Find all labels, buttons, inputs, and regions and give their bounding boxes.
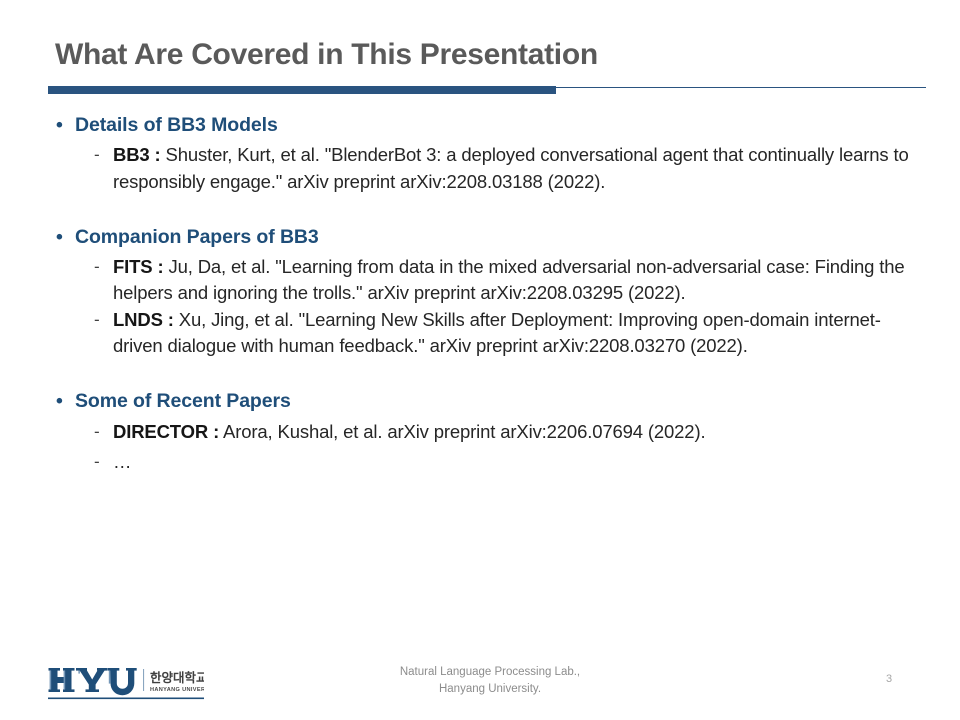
outline-item: - … <box>0 449 960 475</box>
dash-bullet-icon: - <box>94 142 100 168</box>
page-number: 3 <box>886 673 916 685</box>
title-divider <box>48 84 926 94</box>
outline-item-lead: LNDS : <box>113 309 174 330</box>
outline-item-text: … <box>113 451 131 472</box>
dash-bullet-icon: - <box>94 254 100 280</box>
outline-item-lead: FITS : <box>113 256 163 277</box>
outline-group: • Companion Papers of BB3 - FITS : Ju, D… <box>0 224 960 359</box>
outline-group: • Some of Recent Papers - DIRECTOR : Aro… <box>0 388 960 475</box>
outline-item: - BB3 : Shuster, Kurt, et al. "BlenderBo… <box>0 142 960 195</box>
outline-item-text: Arora, Kushal, et al. arXiv preprint arX… <box>219 421 705 442</box>
title-divider-thick-bar <box>48 86 556 94</box>
slide-title-block: What Are Covered in This Presentation <box>55 38 925 73</box>
hyu-logo-graphic: 한양대학교 HANYANG UNIVERSITY <box>48 666 204 702</box>
dash-bullet-icon: - <box>94 307 100 333</box>
outline-item-lead: BB3 : <box>113 144 161 165</box>
logo-english-name: HANYANG UNIVERSITY <box>150 687 204 693</box>
footer-note: Natural Language Processing Lab., Hanyan… <box>330 664 650 697</box>
outline-heading-label: Some of Recent Papers <box>75 390 291 412</box>
outline-heading-label: Details of BB3 Models <box>75 114 278 136</box>
logo-korean-name: 한양대학교 <box>150 670 204 685</box>
outline-content: • Details of BB3 Models - BB3 : Shuster,… <box>0 112 960 475</box>
logo-divider <box>143 669 144 691</box>
bullet-dot-icon: • <box>56 224 63 250</box>
outline-item: - LNDS : Xu, Jing, et al. "Learning New … <box>0 307 960 360</box>
footer-line-2: Hanyang University. <box>330 681 650 698</box>
outline-item-text: Ju, Da, et al. "Learning from data in th… <box>113 256 905 303</box>
outline-group: • Details of BB3 Models - BB3 : Shuster,… <box>0 112 960 195</box>
presentation-slide: What Are Covered in This Presentation • … <box>0 0 960 720</box>
hyu-wordmark-icon <box>49 668 137 695</box>
dash-bullet-icon: - <box>94 449 100 475</box>
page-title: What Are Covered in This Presentation <box>55 38 925 73</box>
outline-item: - DIRECTOR : Arora, Kushal, et al. arXiv… <box>0 419 960 445</box>
outline-item: - FITS : Ju, Da, et al. "Learning from d… <box>0 254 960 307</box>
dash-bullet-icon: - <box>94 419 100 445</box>
outline-heading: • Companion Papers of BB3 <box>0 224 960 250</box>
outline-heading: • Details of BB3 Models <box>0 112 960 138</box>
spacer <box>0 195 960 224</box>
bullet-dot-icon: • <box>56 388 63 414</box>
bullet-dot-icon: • <box>56 112 63 138</box>
logo-underline <box>48 698 204 700</box>
outline-item-text: Shuster, Kurt, et al. "BlenderBot 3: a d… <box>113 144 909 191</box>
outline-heading-label: Companion Papers of BB3 <box>75 226 319 248</box>
hyu-logo: 한양대학교 HANYANG UNIVERSITY <box>48 666 204 702</box>
outline-item-lead: DIRECTOR : <box>113 421 219 442</box>
footer-line-1: Natural Language Processing Lab., <box>330 664 650 681</box>
spacer <box>0 359 960 388</box>
outline-heading: • Some of Recent Papers <box>0 388 960 414</box>
outline-item-text: Xu, Jing, et al. "Learning New Skills af… <box>113 309 881 356</box>
